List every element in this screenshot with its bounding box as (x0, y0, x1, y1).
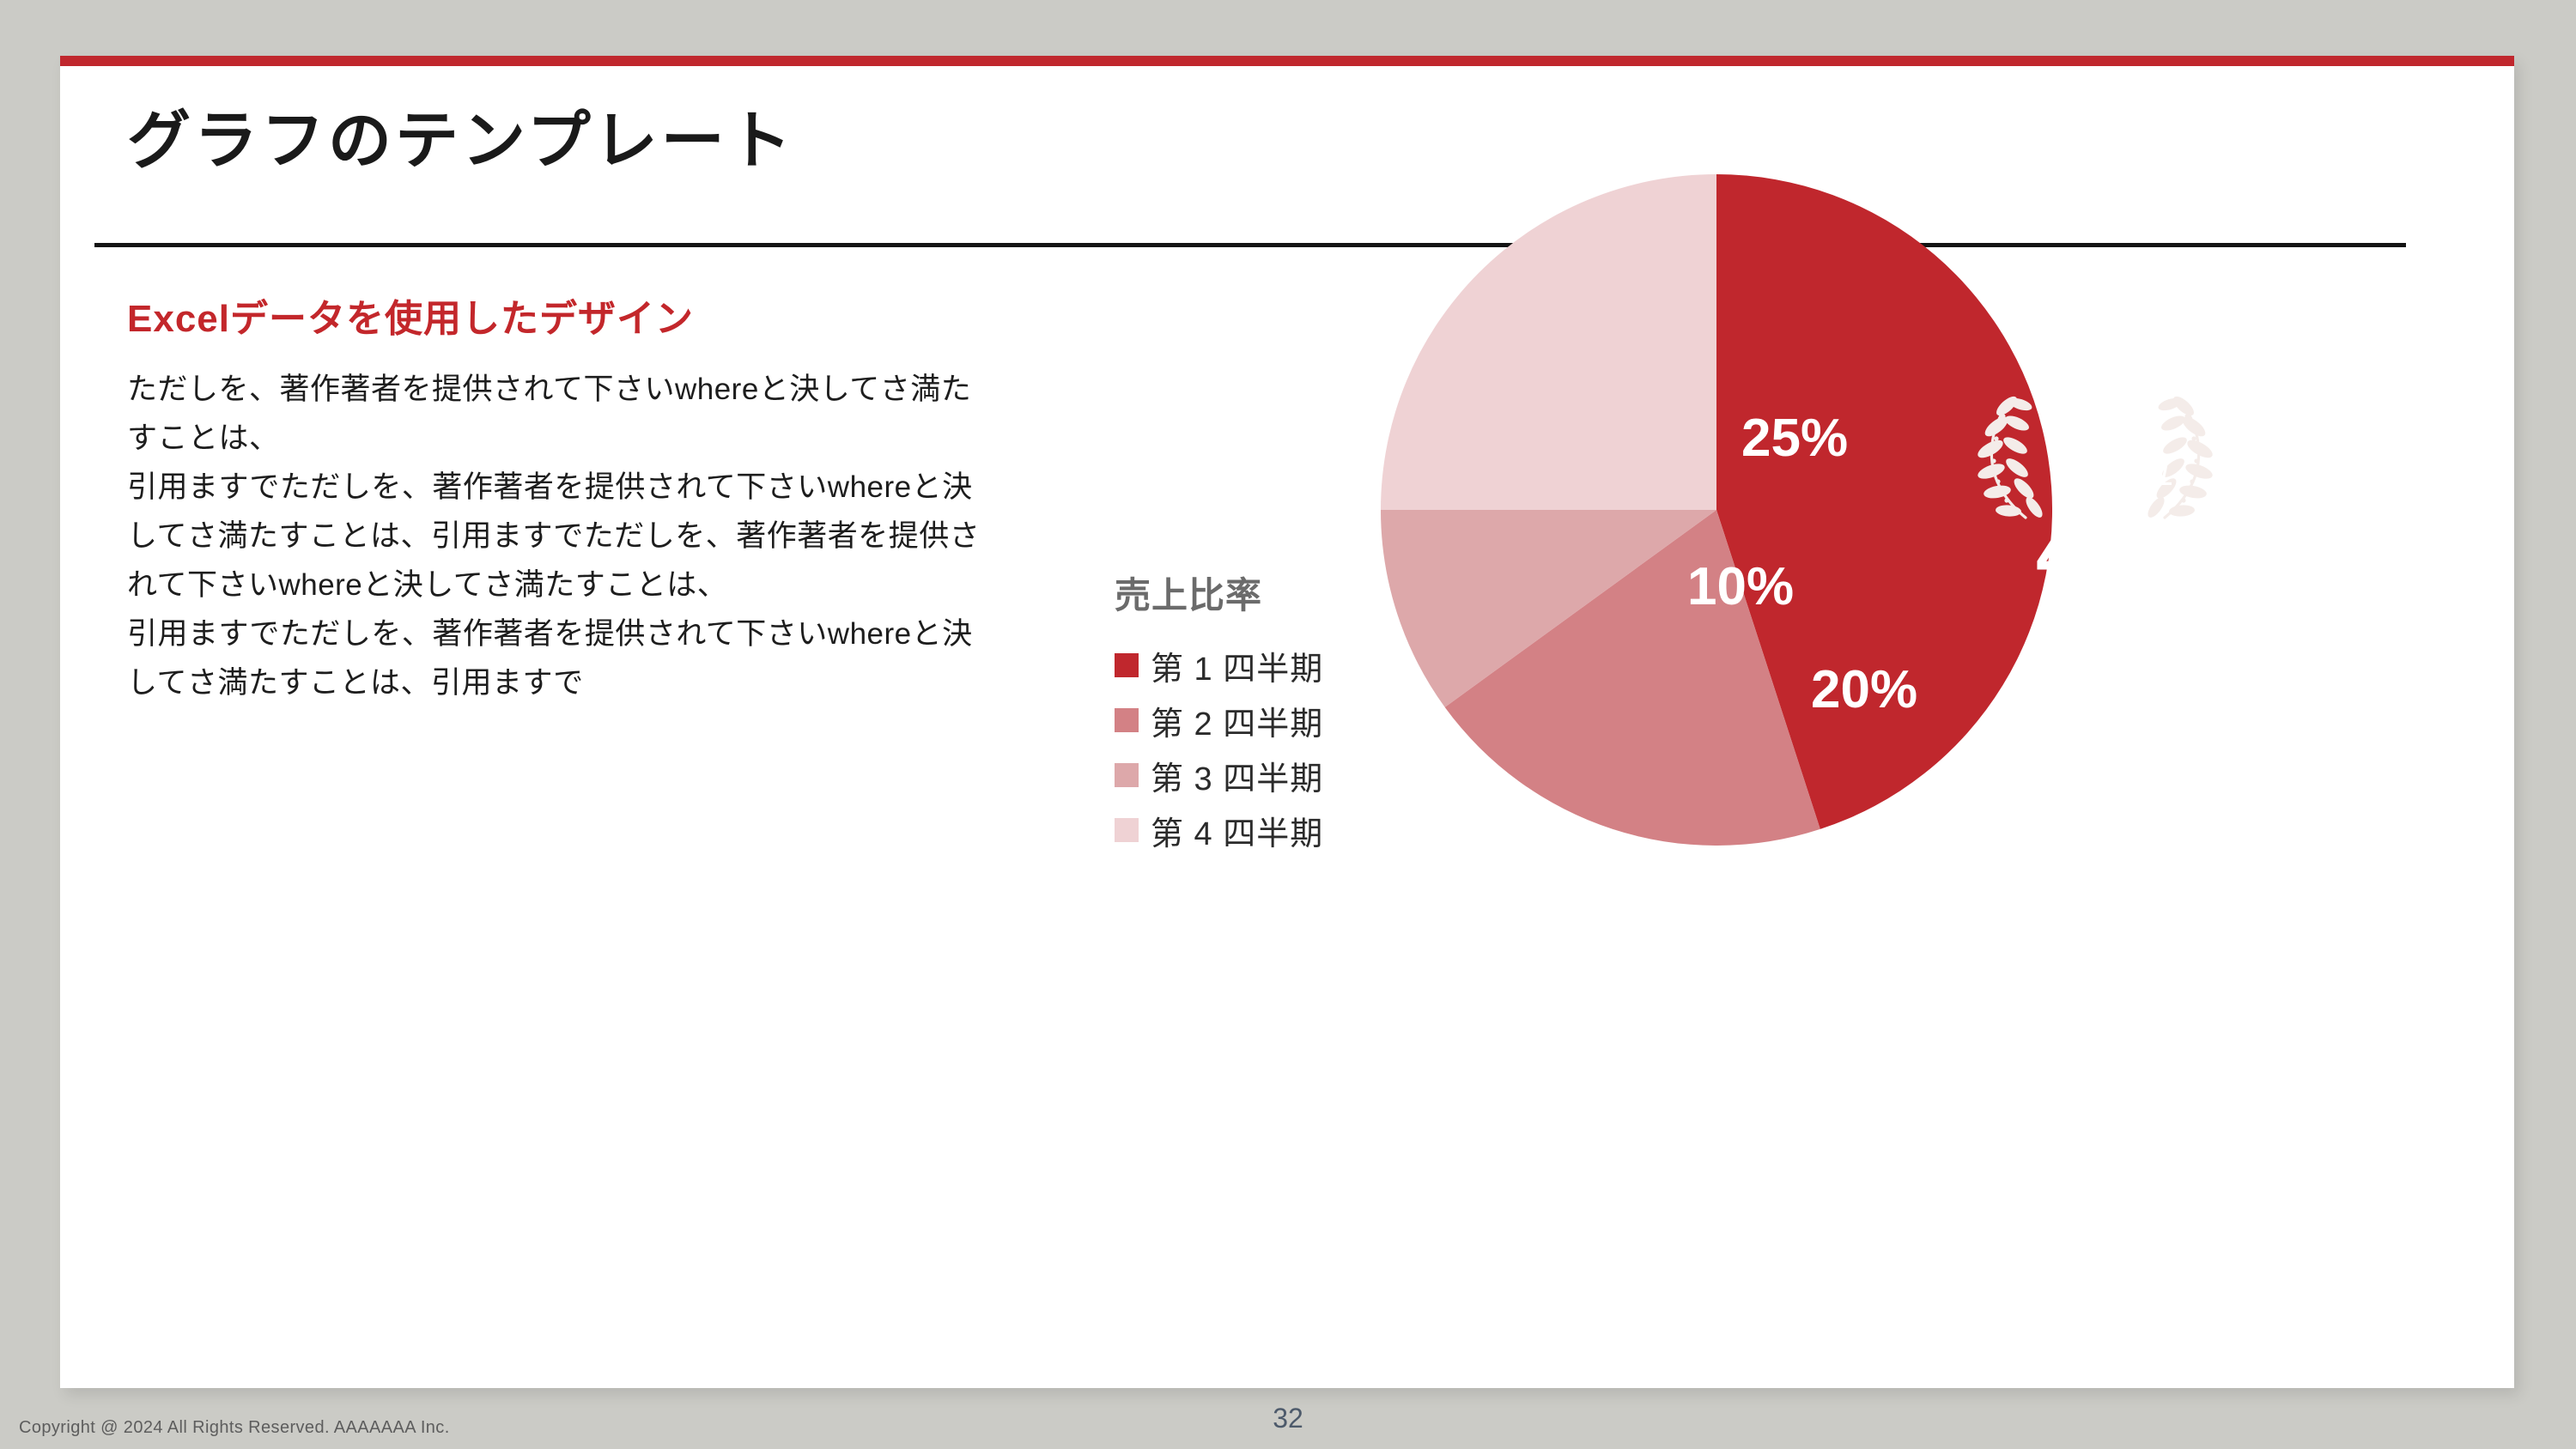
legend-item-q1[interactable]: 第 1 四半期 (1115, 638, 1323, 693)
legend-item-q2[interactable]: 第 2 四半期 (1115, 693, 1323, 748)
section-subtitle: Excelデータを使用したデザイン (127, 288, 694, 343)
legend-title: 売上比率 (1115, 567, 1323, 619)
chart-legend: 売上比率 第 1 四半期 第 2 四半期 第 3 四半期 第 4 四半期 (1115, 567, 1323, 858)
page-number: 32 (0, 1403, 2576, 1434)
legend-label-q3: 第 3 四半期 (1151, 752, 1323, 799)
pie-chart-figure: 売上比率 第 1 四半期 第 2 四半期 第 3 四半期 第 4 四半期 (1048, 116, 2490, 1335)
legend-item-q3[interactable]: 第 3 四半期 (1115, 748, 1323, 803)
legend-swatch-q1 (1115, 653, 1139, 677)
pie-graphic (1381, 174, 2052, 846)
legend-label-q4: 第 4 四半期 (1151, 807, 1323, 854)
body-paragraph-3: 引用ますでただしを、著作著者を提供されて下さいwhereと決してさ満たすことは、… (127, 609, 994, 707)
page-title: グラフのテンプレート (127, 106, 795, 175)
presentation-slide: グラフのテンプレート Excelデータを使用したデザイン ただしを、著作著者を提… (60, 56, 2514, 1388)
legend-label-q2: 第 2 四半期 (1151, 697, 1323, 744)
svg-text:1: 1 (2075, 412, 2116, 494)
desk-background: グラフのテンプレート Excelデータを使用したデザイン ただしを、著作著者を提… (0, 0, 2576, 1449)
legend-item-q4[interactable]: 第 4 四半期 (1115, 803, 1323, 858)
legend-swatch-q3 (1115, 763, 1139, 787)
svg-text:位: 位 (2136, 450, 2173, 492)
body-text-block: ただしを、著作著者を提供されて下さいwhereと決してさ満たすことは、 引用ます… (127, 365, 994, 707)
pie-svg (1381, 174, 2052, 846)
legend-label-q1: 第 1 四半期 (1151, 642, 1323, 689)
legend-swatch-q4 (1115, 818, 1139, 842)
body-paragraph-2: 引用ますでただしを、著作著者を提供されて下さいwhereと決してさ満たすことは、… (127, 463, 994, 609)
body-paragraph-1: ただしを、著作著者を提供されて下さいwhereと決してさ満たすことは、 (127, 365, 994, 463)
pie-slice[interactable] (1381, 174, 1716, 510)
pie-value-label-q1: 45% (2036, 506, 2201, 601)
legend-swatch-q2 (1115, 708, 1139, 732)
slide-accent-bar (60, 56, 2514, 66)
